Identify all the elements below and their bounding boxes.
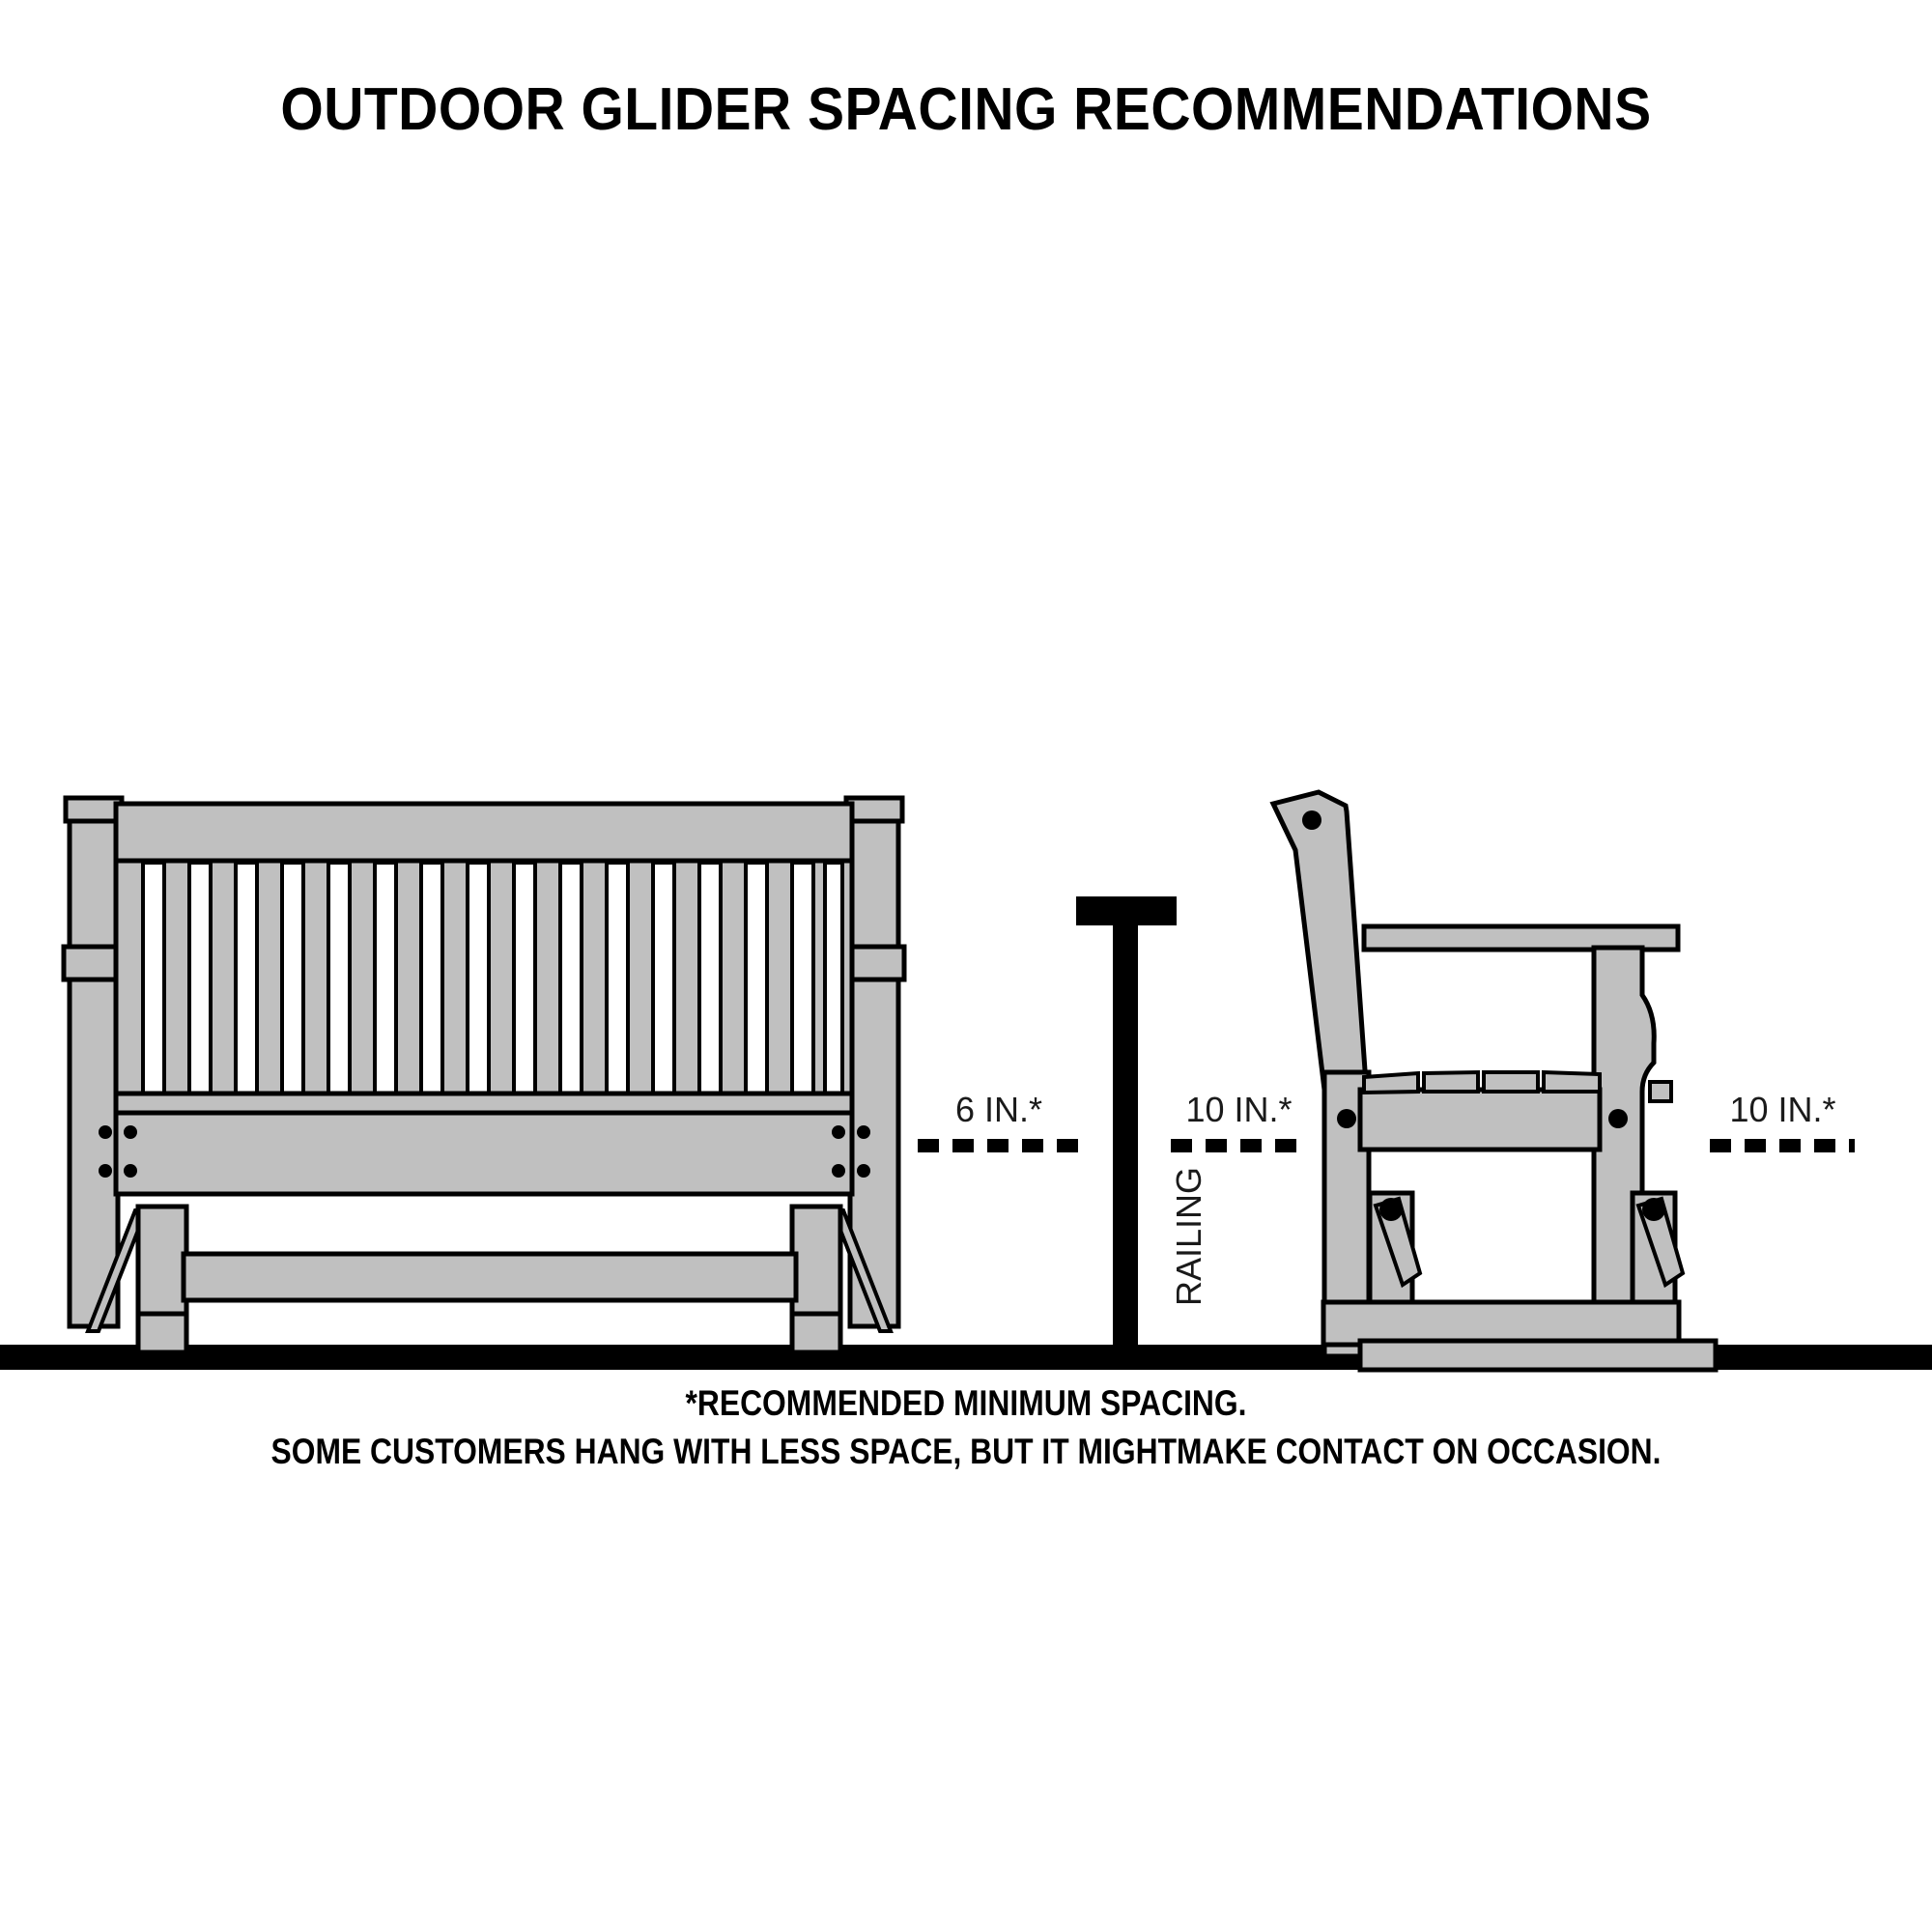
side-view-backrest xyxy=(1273,792,1366,1090)
front-view-top-rail xyxy=(116,804,852,864)
railing-stem xyxy=(1113,923,1138,1352)
measurement-label-gap-middle: 10 IN.* xyxy=(1164,1090,1314,1130)
railing-cap xyxy=(1076,896,1177,925)
side-view-arm-knob xyxy=(1650,1082,1671,1101)
glider-side-view xyxy=(1273,792,1716,1370)
measurement-label-gap-left: 6 IN.* xyxy=(918,1090,1080,1130)
railing-post xyxy=(1076,896,1177,1352)
side-view-base-rail-upper xyxy=(1323,1302,1679,1345)
glider-front-view xyxy=(64,798,904,1352)
diagram-canvas: OUTDOOR GLIDER SPACING RECOMMENDATIONS .… xyxy=(0,0,1932,1932)
side-view-front-bolt xyxy=(1608,1109,1628,1128)
front-view-seat-apron xyxy=(116,1113,852,1194)
measurement-label-gap-right: 10 IN.* xyxy=(1708,1090,1858,1130)
footnote-line-1: *RECOMMENDED MINIMUM SPACING. xyxy=(135,1383,1797,1424)
side-view-rear-bolt xyxy=(1337,1109,1356,1128)
side-view-backrest-bolt xyxy=(1302,810,1321,830)
side-view-seat-slats xyxy=(1364,1072,1600,1093)
footnote-line-2: SOME CUSTOMERS HANG WITH LESS SPACE, BUT… xyxy=(135,1432,1797,1472)
side-view-seat-board xyxy=(1360,1090,1600,1150)
side-view-floor-runner xyxy=(1360,1341,1716,1370)
glider-spacing-illustration: .wood { fill:#C0C0C0; stroke:#000000; st… xyxy=(0,0,1932,1932)
front-view-bottom-stretcher xyxy=(184,1254,796,1300)
railing-label: RAILING xyxy=(1169,1167,1209,1306)
